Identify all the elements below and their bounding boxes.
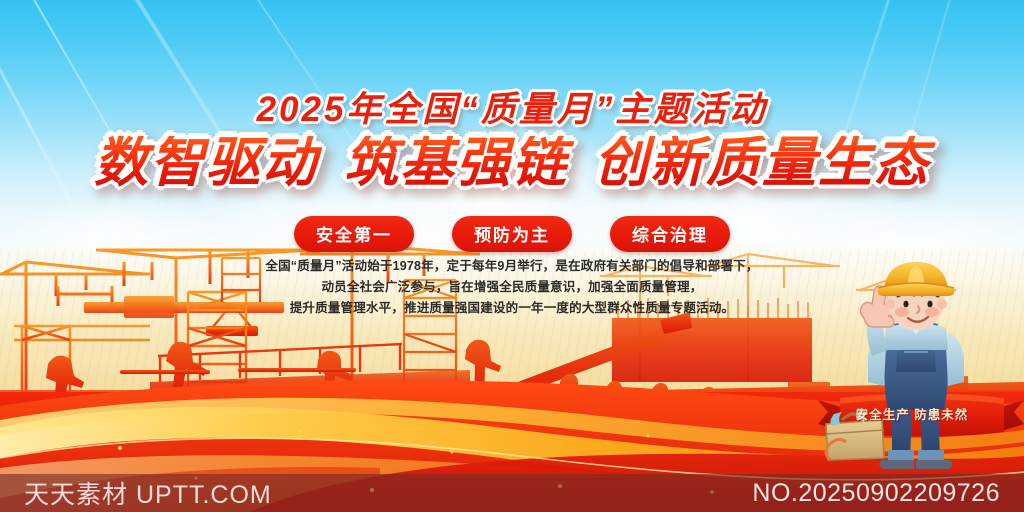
title-block: 2025年全国“质量月”主题活动 数智驱动筑基强链创新质量生态 [0,92,1024,190]
cuff [888,450,914,460]
status-badge[interactable]: 预防为主 [452,216,572,252]
poster-canvas: 2025年全国“质量月”主题活动 数智驱动筑基强链创新质量生态 安全第一 预防为… [0,0,1024,512]
headline-part-3: 创新质量生态 [594,133,930,193]
worker-shoes [879,460,952,469]
watermark-bar: 天天素材 UPTT.COM NO.20250902209726 [0,474,1024,512]
status-badge[interactable]: 安全第一 [294,216,414,252]
headline-part-2: 筑基强链 [344,133,568,193]
headline-part-1: 数智驱动 [94,133,318,193]
watermark-right: NO.20250902209726 [752,479,1000,508]
cuff [918,450,944,460]
page-title: 数智驱动筑基强链创新质量生态 [0,136,1024,190]
hard-hat-icon [878,262,955,296]
page-subtitle: 2025年全国“质量月”主题活动 [0,92,1024,127]
watermark-left: 天天素材 UPTT.COM [24,475,272,511]
status-badge[interactable]: 综合治理 [610,216,730,252]
worker-thumbs-up-icon [824,262,1004,474]
slogan-badge-row: 安全第一 预防为主 综合治理 [0,216,1024,252]
ribbon-label: 安全生产 防患未然 [836,404,988,423]
worker-sleeve-right [946,332,964,386]
